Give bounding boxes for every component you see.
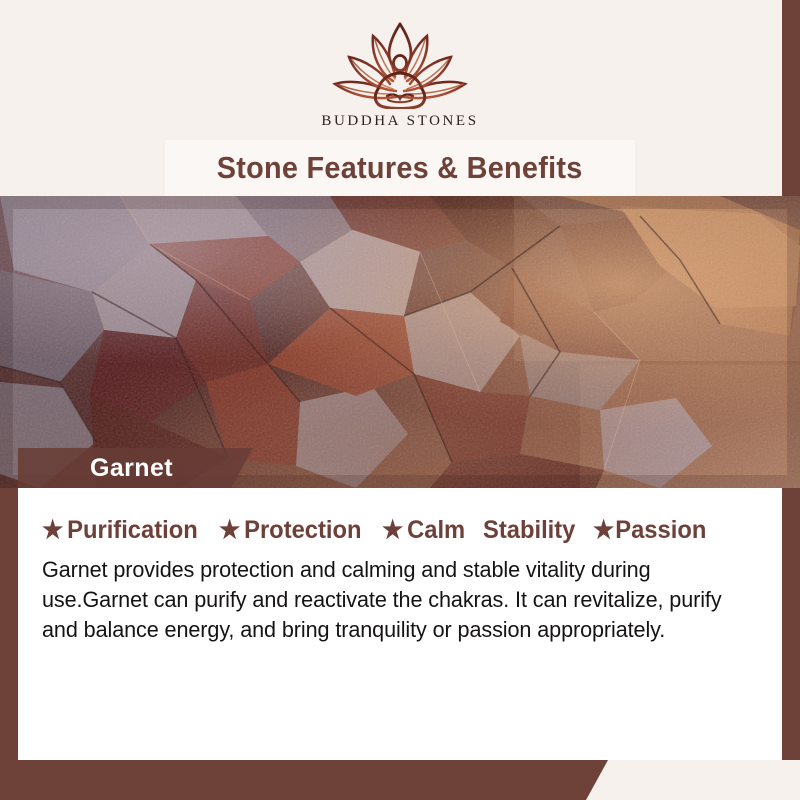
benefit-item-purification: ★ Purification — [42, 516, 198, 545]
benefit-label: Calm — [407, 516, 465, 545]
lotus-meditation-icon — [325, 21, 475, 109]
stone-description-panel: ★ Purification ★ Protection ★ Calm ★ Sta… — [18, 488, 782, 760]
benefit-item-passion: ★ Passion — [593, 516, 706, 545]
benefit-item-protection: ★ Protection — [219, 516, 362, 545]
star-icon: ★ — [219, 518, 240, 543]
benefit-label: Purification — [67, 516, 198, 545]
star-icon: ★ — [593, 518, 614, 543]
brand-header: BUDDHA STONES — [18, 0, 782, 150]
stone-name-label: Garnet — [18, 454, 173, 483]
benefit-label: Passion — [615, 516, 706, 545]
title-band: Stone Features & Benefits — [165, 140, 635, 196]
benefit-label: Stability — [483, 516, 575, 545]
star-icon: ★ — [42, 518, 63, 543]
benefit-item-stability: ★ Stability — [483, 516, 575, 545]
stone-description-text: Garnet provides protection and calming a… — [42, 555, 761, 645]
frame-decoration-bottom — [0, 760, 608, 800]
star-icon: ★ — [382, 518, 403, 543]
benefit-item-calm: ★ Calm — [382, 516, 465, 545]
stone-info-card: BUDDHA STONES Stone Features & Benefits — [0, 0, 800, 800]
benefit-label: Protection — [244, 516, 361, 545]
stone-name-banner: Garnet — [18, 448, 253, 488]
benefits-list: ★ Purification ★ Protection ★ Calm ★ Sta… — [42, 516, 762, 545]
page-title: Stone Features & Benefits — [217, 150, 583, 186]
garnet-crystal-cluster-photo — [0, 196, 800, 488]
brand-wordmark: BUDDHA STONES — [321, 113, 478, 130]
